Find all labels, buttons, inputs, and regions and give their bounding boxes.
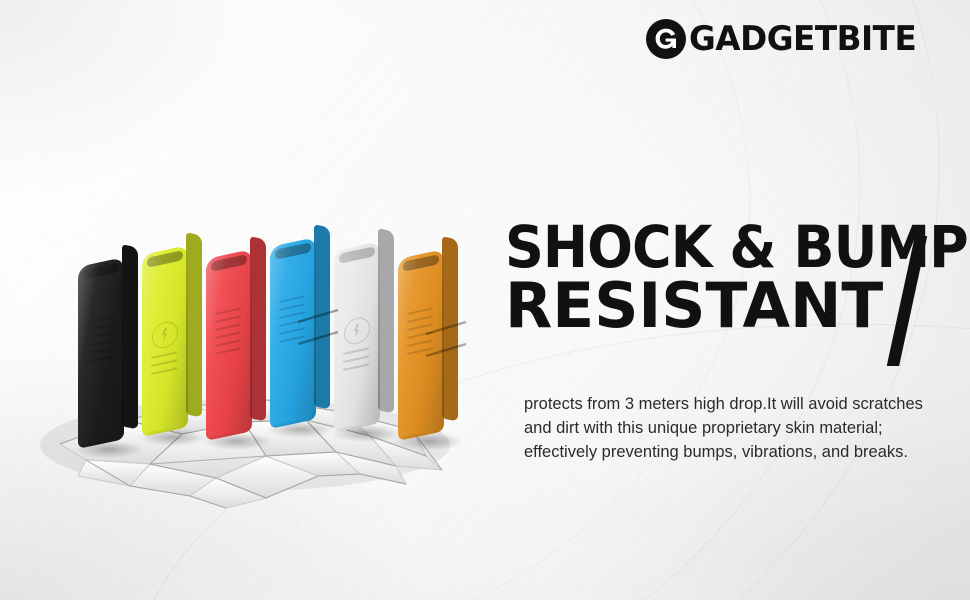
case-shadow — [394, 432, 464, 450]
case-side-face — [186, 232, 202, 417]
headline-block: SHOCK & BUMP RESISTANT — [505, 222, 935, 334]
case-side-face — [122, 244, 138, 429]
case-side-face — [250, 236, 266, 421]
case-shadow — [202, 432, 272, 450]
case-side-face — [378, 228, 394, 413]
case-shading — [142, 245, 188, 437]
product-case-yellow-green — [142, 245, 188, 437]
product-case-red — [206, 249, 252, 441]
case-front-face — [206, 249, 252, 441]
brand-logo: GADGETBITE — [645, 17, 926, 61]
headline-line-1: SHOCK & BUMP — [505, 222, 905, 273]
case-shadow — [138, 428, 208, 446]
case-front-face — [78, 257, 124, 449]
headline-line-2: RESISTANT — [505, 279, 931, 334]
corner-shading-top-left — [0, 0, 260, 200]
case-shading — [206, 249, 252, 441]
case-front-face — [142, 245, 188, 437]
case-front-stripes-orange — [424, 320, 494, 380]
g-circle-logo-icon — [645, 18, 687, 60]
case-shadow — [330, 424, 400, 442]
case-shadow — [74, 440, 144, 458]
body-copy: protects from 3 meters high drop.It will… — [524, 392, 936, 465]
case-shading — [78, 257, 124, 449]
product-case-black — [78, 257, 124, 449]
brand-name: GADGETBITE — [689, 18, 916, 60]
case-shadow — [266, 420, 336, 438]
case-front-stripes — [296, 308, 366, 368]
product-banner: GADGETBITE — [0, 0, 970, 600]
